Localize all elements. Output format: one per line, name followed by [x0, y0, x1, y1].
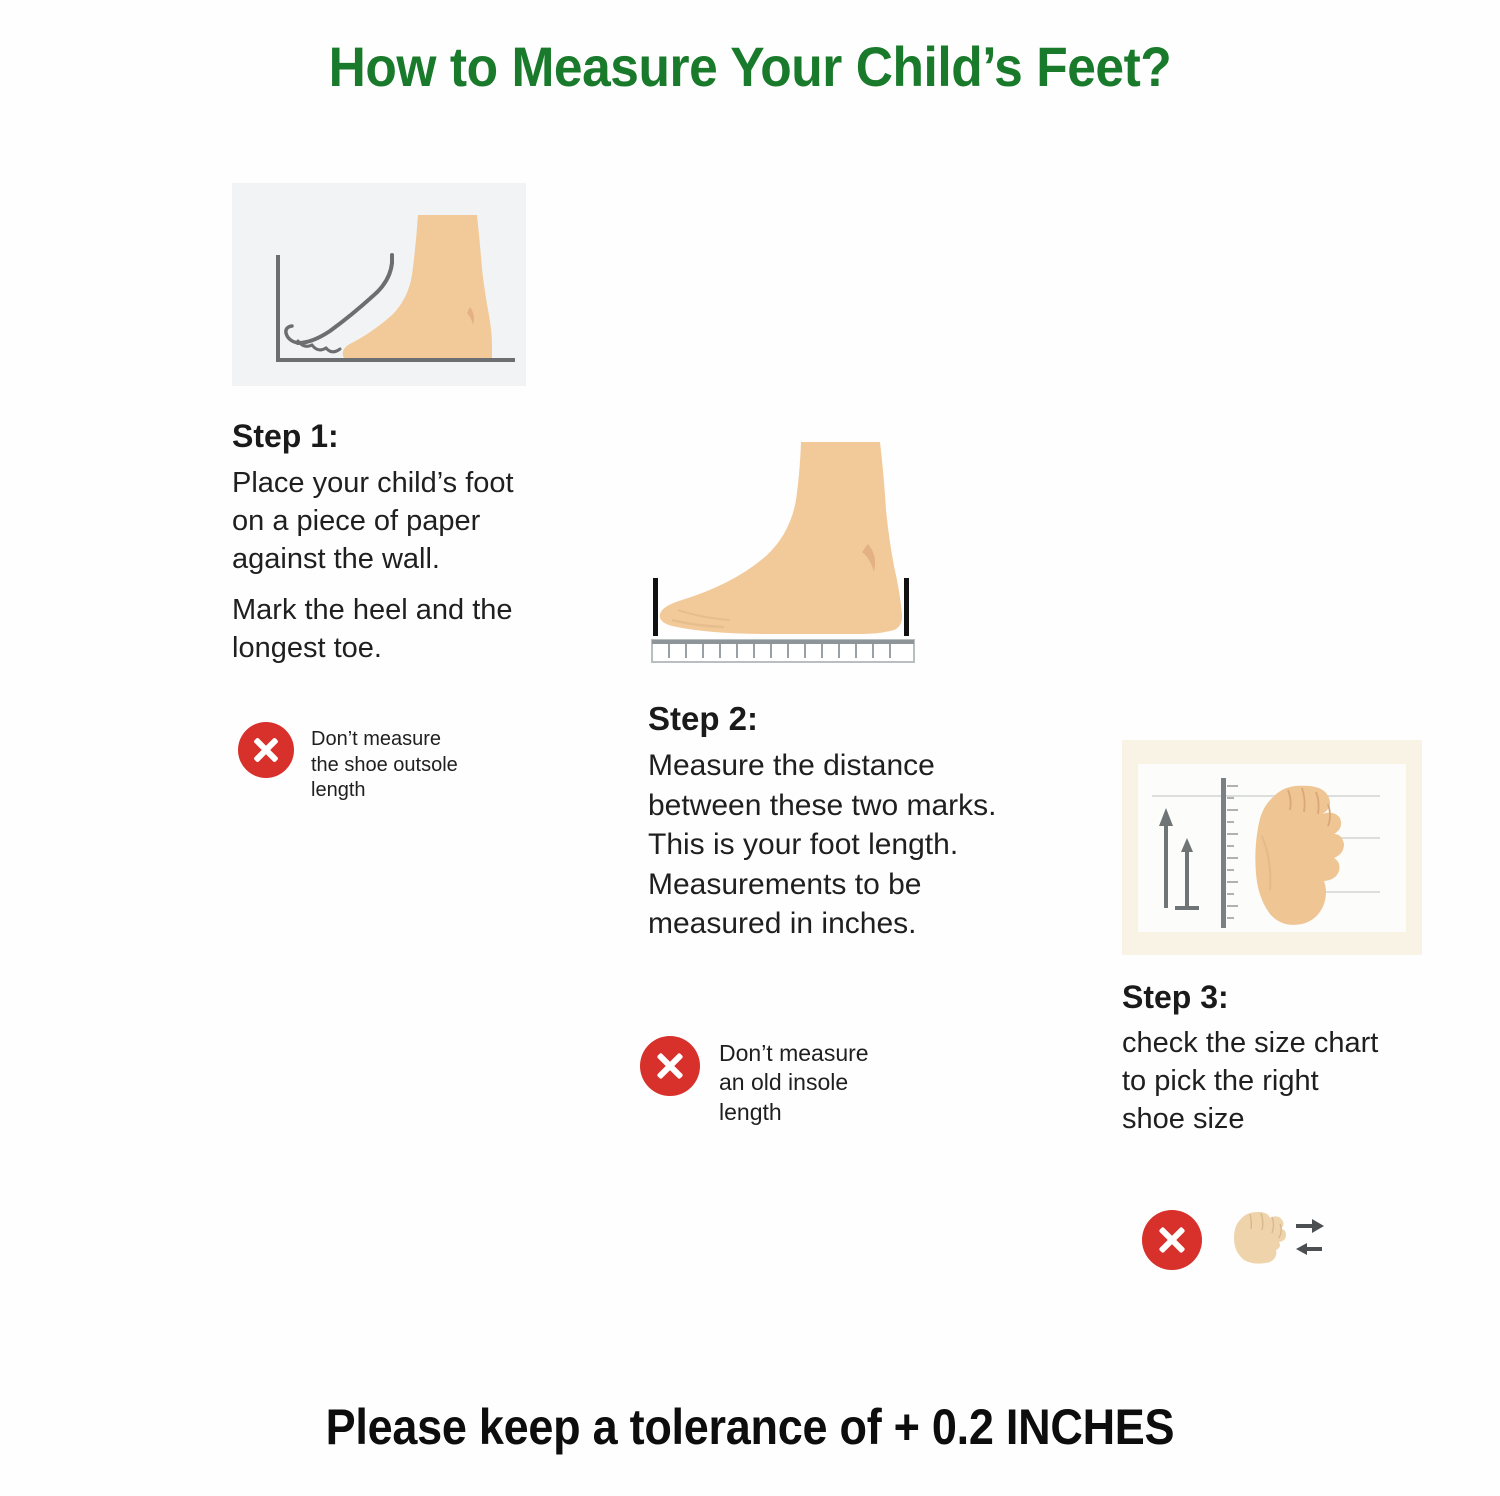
- step-3-warning: [1142, 1204, 1372, 1275]
- step-2-warning-line-3: length: [719, 1098, 869, 1127]
- step-3-body: check the size chart to pick the right s…: [1122, 1024, 1452, 1139]
- step-1-line-3: against the wall.: [232, 540, 552, 578]
- foot-sole-with-arrows-icon: [1220, 1204, 1330, 1275]
- step-1-line-1: Place your child’s foot: [232, 464, 552, 502]
- step-2-svg: [648, 428, 948, 668]
- step-3-heading: Step 3:: [1122, 979, 1452, 1016]
- foot-arrows-svg: [1220, 1204, 1330, 1270]
- red-x-circle-icon: [640, 1036, 700, 1096]
- step-2-warning: Don’t measure an old insole length: [640, 1036, 960, 1127]
- step-3-line-2: to pick the right: [1122, 1062, 1452, 1100]
- step-1-warning-text: Don’t measure the shoe outsole length: [311, 722, 458, 804]
- step-1-line-2: on a piece of paper: [232, 502, 552, 540]
- infographic-page: How to Measure Your Child’s Feet? Step 1…: [0, 0, 1500, 1496]
- foot-side-on-ruler-illustration: [648, 428, 948, 668]
- step-2-warning-line-1: Don’t measure: [719, 1039, 869, 1068]
- step-2-warning-text: Don’t measure an old insole length: [719, 1036, 869, 1127]
- step-1-heading: Step 1:: [232, 418, 572, 455]
- step-3-block: Step 3: check the size chart to pick the…: [1122, 740, 1452, 1139]
- step-1-svg: [232, 183, 526, 386]
- step-3-line-1: check the size chart: [1122, 1024, 1452, 1062]
- step-1-paragraph-gap: [232, 579, 552, 591]
- step-2-heading: Step 2:: [648, 700, 1078, 738]
- step-1-warning: Don’t measure the shoe outsole length: [238, 722, 538, 804]
- tolerance-note: Please keep a tolerance of + 0.2 INCHES: [75, 1398, 1425, 1456]
- step-1-warning-line-3: length: [311, 778, 458, 804]
- step-2-warning-line-2: an old insole: [719, 1068, 869, 1097]
- step-3-svg: [1122, 740, 1422, 955]
- arrow-left-icon: [1296, 1243, 1322, 1255]
- foot-sole-on-measuring-chart-illustration: [1122, 740, 1422, 955]
- step-1-line-4: Mark the heel and the: [232, 591, 552, 629]
- step-2-line-4: Measurements to be: [648, 865, 1078, 905]
- step-2-line-1: Measure the distance: [648, 746, 1078, 786]
- step-1-line-5: longest toe.: [232, 629, 552, 667]
- step-2-block: Step 2: Measure the distance between the…: [648, 428, 1078, 944]
- step-1-block: Step 1: Place your child’s foot on a pie…: [232, 183, 572, 667]
- step-2-line-5: measured in inches.: [648, 904, 1078, 944]
- step-2-body: Measure the distance between these two m…: [648, 746, 1078, 944]
- toe-mark: [653, 578, 658, 636]
- step-2-line-3: This is your foot length.: [648, 825, 1078, 865]
- heel-mark: [904, 578, 909, 636]
- step-1-body: Place your child’s foot on a piece of pa…: [232, 464, 552, 667]
- arrow-right-icon: [1296, 1219, 1324, 1233]
- foot-side-against-wall-illustration: [232, 183, 526, 386]
- red-x-circle-icon: [1142, 1210, 1202, 1270]
- step-2-line-2: between these two marks.: [648, 786, 1078, 826]
- step-1-warning-line-1: Don’t measure: [311, 727, 458, 753]
- red-x-circle-icon: [238, 722, 294, 778]
- page-title: How to Measure Your Child’s Feet?: [60, 34, 1440, 99]
- step-1-warning-line-2: the shoe outsole: [311, 753, 458, 779]
- step-3-line-3: shoe size: [1122, 1100, 1452, 1138]
